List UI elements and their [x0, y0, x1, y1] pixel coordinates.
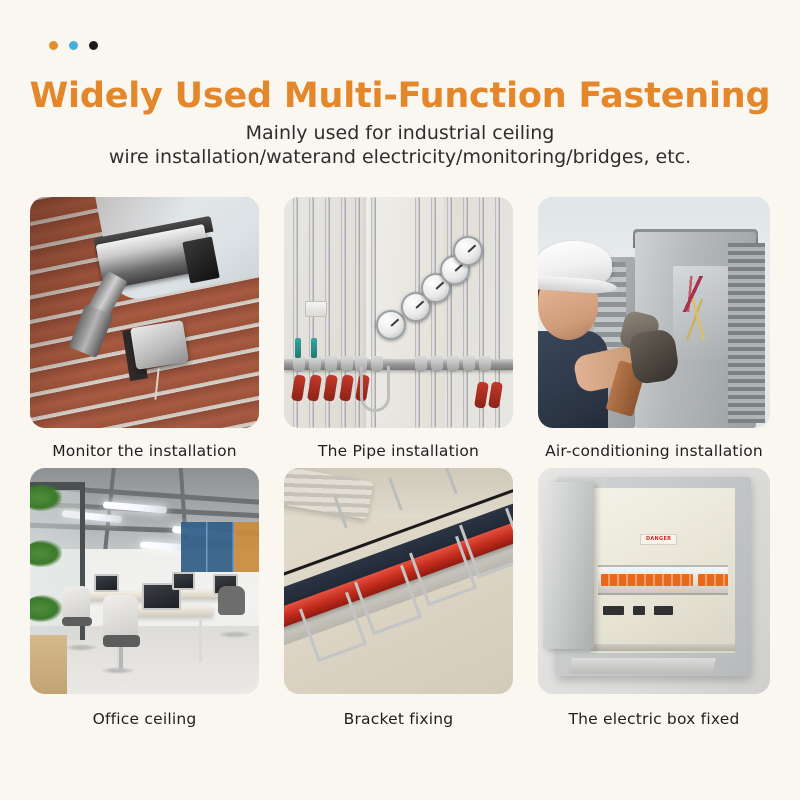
danger-label: DANGER	[640, 534, 677, 545]
gallery-caption: Office ceiling	[30, 710, 259, 728]
dot-black-icon	[89, 41, 98, 50]
application-gallery: Monitor the installation	[30, 197, 770, 728]
gallery-caption: The electric box fixed	[538, 710, 770, 728]
photo-electrical-distribution-box: DANGER	[538, 468, 770, 694]
photo-technician-ac-unit	[538, 197, 770, 428]
gallery-caption: Bracket fixing	[284, 710, 513, 728]
photo-suspended-pipe-brackets	[284, 468, 513, 694]
product-banner: Widely Used Multi-Function Fastening Mai…	[0, 0, 800, 800]
gallery-caption: Air-conditioning installation	[538, 442, 770, 460]
dot-row	[49, 41, 98, 50]
gallery-item-electric-box-fixed: DANGER The electric box fixed	[538, 468, 770, 728]
gallery-caption: Monitor the installation	[30, 442, 259, 460]
banner-subtitle-line-2: wire installation/waterand electricity/m…	[0, 146, 800, 168]
photo-pipes-with-gauges	[284, 197, 513, 428]
gallery-item-bracket-fixing: Bracket fixing	[284, 468, 513, 728]
gallery-item-pipe-installation: The Pipe installation	[284, 197, 513, 460]
gallery-item-monitor-installation: Monitor the installation	[30, 197, 259, 460]
gallery-item-air-conditioning-installation: Air-conditioning installation	[538, 197, 770, 460]
dot-blue-icon	[69, 41, 78, 50]
gallery-caption: The Pipe installation	[284, 442, 513, 460]
banner-subtitle-line-1: Mainly used for industrial ceiling	[0, 122, 800, 144]
banner-headline: Widely Used Multi-Function Fastening	[0, 76, 800, 116]
photo-open-plan-office	[30, 468, 259, 694]
gallery-item-office-ceiling: Office ceiling	[30, 468, 259, 728]
dot-orange-icon	[49, 41, 58, 50]
photo-cctv-brick-wall	[30, 197, 259, 428]
